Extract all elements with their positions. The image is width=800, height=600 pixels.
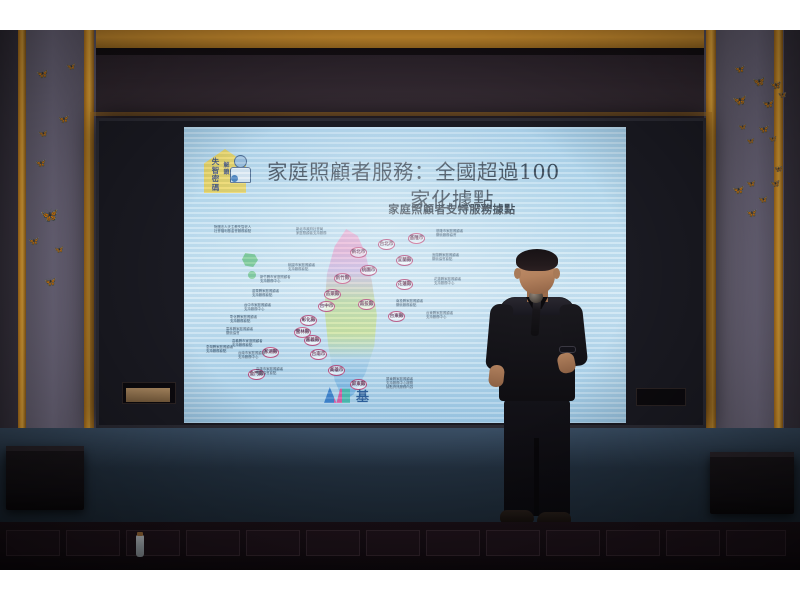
stage-speaker-left-top: [6, 446, 84, 451]
stage-speaker-left: [6, 448, 84, 510]
water-bottle-cap: [137, 532, 143, 536]
map-city-label: 新北市: [350, 247, 367, 258]
map-city-label: 彰化縣: [300, 315, 317, 326]
butterfly-icon: 🦋: [758, 196, 768, 204]
offshore-island-icon: [242, 253, 258, 267]
butterfly-icon: 🦋: [40, 208, 59, 223]
butterfly-icon: 🦋: [732, 94, 747, 106]
map-city-label: 宜蘭縣: [396, 255, 413, 266]
foundation-mark-icon: [324, 387, 350, 403]
butterfly-icon: 🦋: [758, 126, 769, 135]
left-wall-panel: 🦋 🦋 🦋 🦋 🦋 🦋 🦋 🦋 🦋: [0, 30, 96, 430]
map-city-label: 台東縣: [388, 311, 405, 322]
map-annotation: 新北市政府社會局 家庭照顧者支持服務: [296, 227, 358, 235]
map-city-label: 台北市: [378, 239, 395, 250]
water-bottle: [136, 535, 144, 557]
map-city-label: 嘉義縣: [304, 335, 321, 346]
map-annotation: 桃園市家庭照顧者 支持服務據點: [288, 263, 348, 271]
butterfly-icon: 🦋: [734, 66, 745, 75]
presenter: [482, 252, 592, 534]
butterfly-icon: 🦋: [770, 82, 781, 91]
map-city-label: 台南市: [310, 349, 327, 360]
butterfly-icon: 🦋: [746, 138, 755, 145]
map-city-label: 新竹縣: [334, 273, 351, 284]
foundation-name-left: 基: [356, 386, 370, 405]
beam-shadow: [0, 48, 800, 55]
slide-title-line1: 家庭照顧者服務：全國超過100: [267, 155, 619, 185]
map-city-label: 高雄市: [328, 365, 345, 376]
map-annotation: 台中市家庭照顧者 支持服務中心: [244, 303, 306, 311]
wall-vent: [636, 388, 686, 406]
organization-logo: 失智密碼 解鎖: [204, 145, 258, 199]
map-annotation: 澎湖縣家庭照顧者 支持服務據點: [206, 345, 266, 353]
map-city-label: 花蓮縣: [396, 279, 413, 290]
butterfly-icon: 🦋: [28, 238, 39, 247]
photo-band: 🦋 🦋 🦋 🦋 🦋 🦋 🦋 🦋 🦋 🦋 🦋 🦋 🦋 🦋 🦋 🦋 🦋 🦋: [0, 30, 800, 570]
butterfly-icon: 🦋: [746, 180, 756, 188]
slide-subtitle: 家庭照顧者支持服務據點: [302, 201, 602, 217]
butterfly-icon: 🦋: [774, 166, 783, 173]
projection-screen: 失智密碼 解鎖 家庭照顧者服務：全國超過100 家化據點 家庭照顧者支持服務據點: [96, 118, 706, 428]
butterfly-icon: 🦋: [38, 130, 48, 138]
map-annotation: 台東縣家庭照顧者 支持服務中心: [426, 311, 488, 319]
butterfly-icon: 🦋: [44, 278, 56, 288]
butterfly-icon: 🦋: [778, 92, 787, 99]
butterfly-icon: 🦋: [732, 186, 744, 196]
stage-floor-sheen: [0, 428, 800, 468]
offshore-island-icon: [248, 271, 256, 279]
letterbox-bottom: [0, 570, 800, 600]
butterfly-icon: 🦋: [35, 160, 46, 169]
map-annotation: 高雄市家庭照顧者 關懷協會據點: [256, 367, 318, 375]
map-city-label: 基隆市: [408, 233, 425, 244]
butterfly-icon: 🦋: [770, 180, 780, 188]
map-annotation: 苗栗縣家庭照顧者 支持服務據點: [252, 289, 314, 297]
map-city-label: 台中市: [318, 301, 335, 312]
ceiling-beam: [0, 30, 800, 48]
person-figure-icon: [230, 155, 252, 189]
map-annotation: 新竹縣市家庭照顧者 支持服務中心: [260, 275, 324, 283]
map-annotation: 基隆市家庭照顧者 關懷服務協會: [436, 229, 498, 237]
butterfly-icon: 🦋: [66, 63, 76, 71]
right-wall-panel: 🦋 🦋 🦋 🦋 🦋 🦋 🦋 🦋 🦋 🦋 🦋 🦋 🦋 🦋 🦋 🦋: [704, 30, 800, 430]
stage-speaker-right: [710, 454, 794, 514]
butterfly-icon: 🦋: [746, 210, 757, 219]
butterfly-icon: 🦋: [36, 70, 48, 80]
map-annotation: 南投縣家庭照顧者 關懷服務據點: [396, 299, 456, 307]
screenshot-root: 🦋 🦋 🦋 🦋 🦋 🦋 🦋 🦋 🦋 🦋 🦋 🦋 🦋 🦋 🦋 🦋 🦋 🦋: [0, 0, 800, 600]
map-city-label: 桃園市: [360, 265, 377, 276]
butterfly-icon: 🦋: [58, 116, 69, 125]
map-city-label: 南投縣: [358, 299, 375, 310]
map-annotation: 彰化縣家庭照顧者 支持服務據點: [230, 315, 292, 323]
presenter-hair: [516, 249, 558, 271]
butterfly-icon: 🦋: [768, 136, 777, 143]
map-city-label: 苗栗縣: [324, 289, 341, 300]
butterfly-icon: 🦋: [738, 124, 747, 131]
butterfly-icon: 🦋: [54, 246, 64, 254]
butterfly-icon: 🦋: [762, 100, 774, 110]
letterbox-top: [0, 0, 800, 30]
wall-vent-light: [126, 388, 170, 402]
map-annotation: 財團法人天主教失智老人 社會福利基金會服務據點: [214, 225, 294, 233]
stage-speaker-right-top: [710, 452, 794, 457]
map-annotation: 雲林縣家庭照顧者 關懷協會: [226, 327, 286, 335]
butterfly-icon: 🦋: [752, 76, 766, 87]
